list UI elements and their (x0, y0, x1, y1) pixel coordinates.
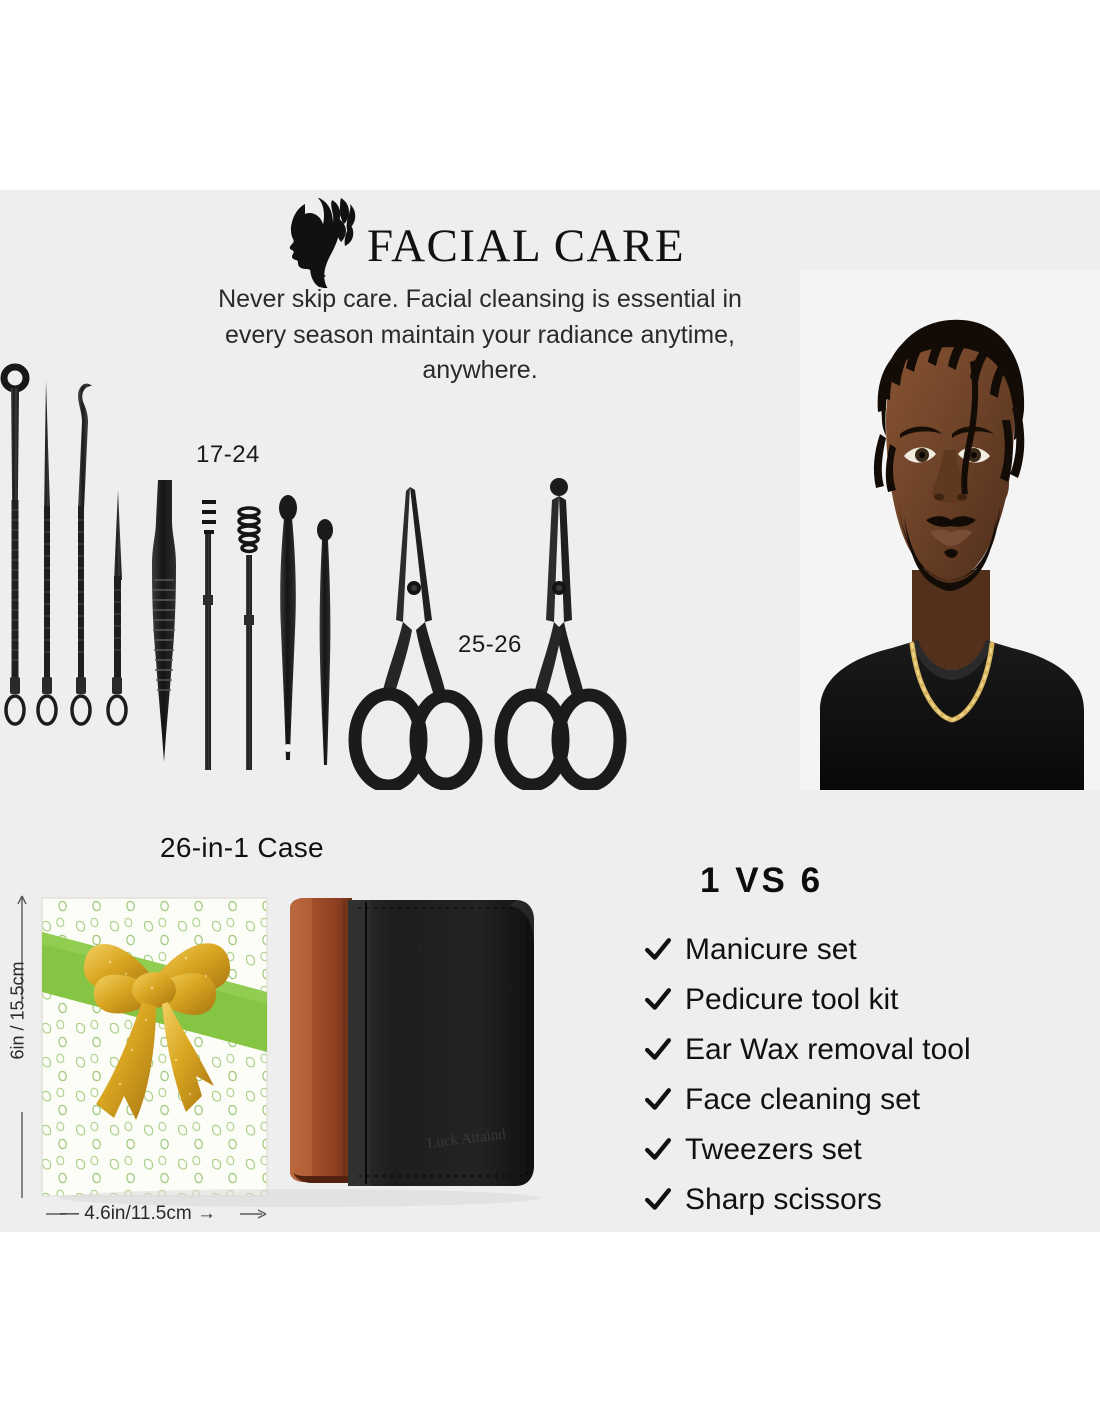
case-heading: 26-in-1 Case (160, 832, 324, 864)
black-leather-case: Luck Attaind (348, 900, 534, 1186)
check-mark-icon (645, 937, 671, 963)
list-item: Face cleaning set (645, 1075, 1075, 1125)
feature-label: Manicure set (685, 935, 857, 965)
brown-leather-case (290, 898, 352, 1183)
feature-label: Sharp scissors (685, 1185, 882, 1215)
feature-list: Manicure set Pedicure tool kit Ear Wax r… (645, 925, 1075, 1225)
scissors-sharp-tip (355, 487, 476, 786)
model-portrait (800, 270, 1100, 790)
dimension-label-horizontal: — 4.6in/11.5cm → (60, 1203, 216, 1225)
ear-spoon-small (317, 519, 333, 765)
feature-label: Face cleaning set (685, 1085, 920, 1115)
dimension-label-vertical: 6in / 15.5cm (8, 941, 29, 1081)
list-item: Sharp scissors (645, 1175, 1075, 1225)
case-figure: Luck Attaind (0, 880, 600, 1230)
list-item: Ear Wax removal tool (645, 1025, 1075, 1075)
blackhead-needle-straight (38, 380, 56, 724)
cuticle-pusher-ridged (152, 480, 176, 762)
blackhead-needle-fine (108, 490, 126, 724)
feature-label: Tweezers set (685, 1135, 862, 1165)
gift-box-green-ribbon-gold-bow (42, 898, 267, 1196)
check-mark-icon (645, 1087, 671, 1113)
ear-pick-spiral-coil (202, 502, 216, 770)
check-mark-icon (645, 1037, 671, 1063)
dim-arrow-right: → (192, 1203, 216, 1224)
tools-illustration (0, 190, 800, 790)
list-item: Pedicure tool kit (645, 975, 1075, 1025)
list-item: Tweezers set (645, 1125, 1075, 1175)
dim-dash-left: — (60, 1203, 84, 1224)
blackhead-extractor-loop-ring (4, 367, 26, 724)
feature-label: Ear Wax removal tool (685, 1035, 971, 1065)
vs-heading: 1 VS 6 (700, 861, 823, 901)
check-mark-icon (645, 1187, 671, 1213)
blackhead-hook-curved (72, 384, 92, 724)
scissors-round-tip (501, 478, 620, 785)
feature-label: Pedicure tool kit (685, 985, 898, 1015)
check-mark-icon (645, 1137, 671, 1163)
dim-horizontal-text: 4.6in/11.5cm (84, 1203, 191, 1224)
product-listing-page: FACIAL CARE Never skip care. Facial clea… (0, 0, 1100, 1422)
list-item: Manicure set (645, 925, 1075, 975)
ear-pick-spring-coil (239, 508, 259, 770)
ear-spoon-large (279, 495, 297, 760)
check-mark-icon (645, 987, 671, 1013)
